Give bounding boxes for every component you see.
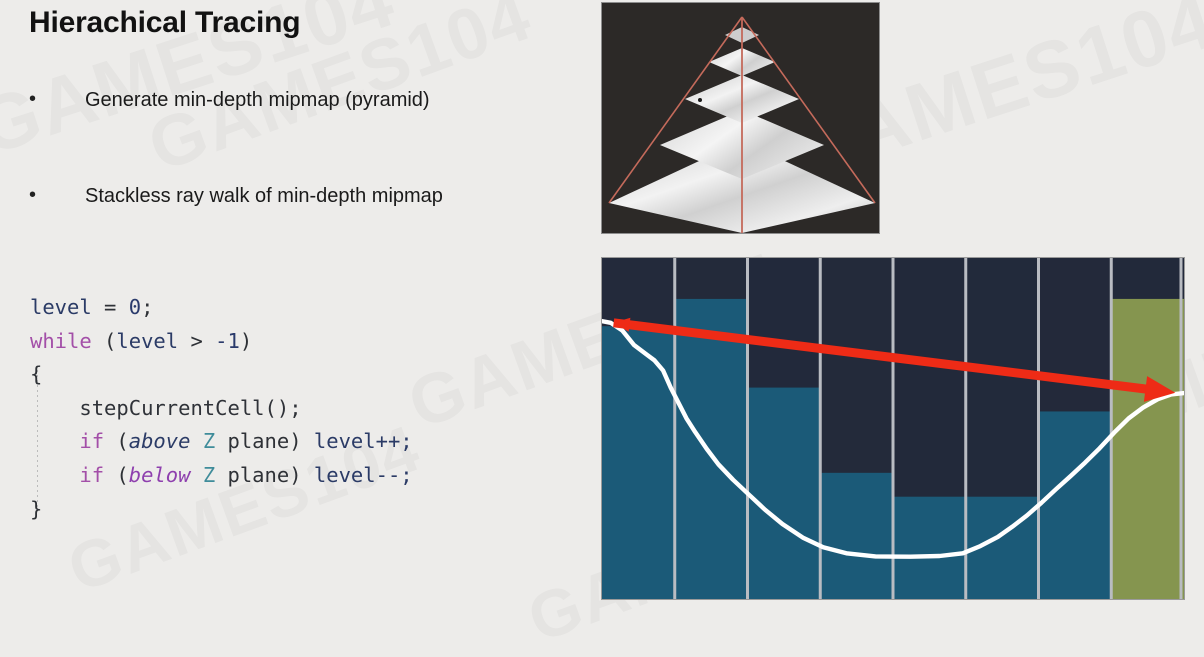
cell-column-fill: [820, 473, 893, 599]
bullet-label: Generate min-depth mipmap (pyramid): [85, 88, 430, 112]
code-token-punctuation: ;: [141, 295, 153, 319]
code-token-keyword: if: [79, 429, 104, 453]
code-token-punctuation: {: [30, 362, 42, 386]
code-token-punctuation: (: [92, 329, 117, 353]
code-token-punctuation: plane): [215, 463, 314, 487]
code-token-variable: level: [30, 295, 92, 319]
pyramid-svg: [602, 3, 880, 234]
code-token-number: -1: [215, 329, 240, 353]
code-line: while (level > -1): [30, 325, 413, 359]
cell-column-fill: [602, 326, 675, 599]
cell-column-hit: [1111, 299, 1184, 599]
code-token-type: Z: [203, 429, 215, 453]
page-title: Hierachical Tracing: [29, 6, 300, 40]
code-line: if (below Z plane) level--;: [30, 459, 413, 493]
code-line: }: [30, 493, 413, 527]
cell-column-fill: [675, 299, 748, 599]
code-token-number: 0: [129, 295, 141, 319]
code-line: stepCurrentCell();: [30, 392, 413, 426]
ray-walk-svg: [602, 258, 1184, 599]
code-token-keyword: if: [79, 463, 104, 487]
code-token-emphasis-blue: above: [129, 429, 191, 453]
code-token-variable: level: [116, 329, 178, 353]
cell-column-fill: [748, 388, 821, 599]
code-token-whitespace: [190, 463, 202, 487]
bullet-marker: •: [29, 184, 47, 206]
code-line: {: [30, 358, 413, 392]
code-token-punctuation: plane): [215, 429, 314, 453]
code-token-variable: level++;: [314, 429, 413, 453]
code-token-keyword: while: [30, 329, 92, 353]
code-line: level = 0;: [30, 291, 413, 325]
code-token-punctuation: }: [30, 497, 42, 521]
code-token-punctuation: ): [240, 329, 252, 353]
code-token-operator: =: [92, 295, 129, 319]
code-line: if (above Z plane) level++;: [30, 425, 413, 459]
bullet-label: Stackless ray walk of min-depth mipmap: [85, 184, 443, 208]
code-token-whitespace: [30, 429, 79, 453]
bullet-marker: •: [29, 88, 47, 110]
code-token-whitespace: [30, 463, 79, 487]
code-token-whitespace: [190, 429, 202, 453]
bullet-item: • Stackless ray walk of min-depth mipmap: [29, 184, 443, 208]
code-token-whitespace: [30, 396, 79, 420]
code-token-emphasis-purple: below: [129, 463, 191, 487]
code-token-function-call: stepCurrentCell();: [79, 396, 301, 420]
min-depth-mipmap-pyramid-figure: [601, 2, 880, 234]
code-token-punctuation: (: [104, 463, 129, 487]
code-token-type: Z: [203, 463, 215, 487]
code-token-punctuation: (: [104, 429, 129, 453]
bullet-item: • Generate min-depth mipmap (pyramid): [29, 88, 430, 112]
stackless-ray-walk-figure: [601, 257, 1185, 600]
pyramid-sample-point: [698, 98, 702, 102]
cell-column-fill: [1039, 411, 1112, 599]
code-token-operator: >: [178, 329, 215, 353]
code-block: level = 0;while (level > -1){ stepCurren…: [30, 291, 413, 526]
code-token-variable: level--;: [314, 463, 413, 487]
cell-column-fill: [893, 497, 966, 599]
